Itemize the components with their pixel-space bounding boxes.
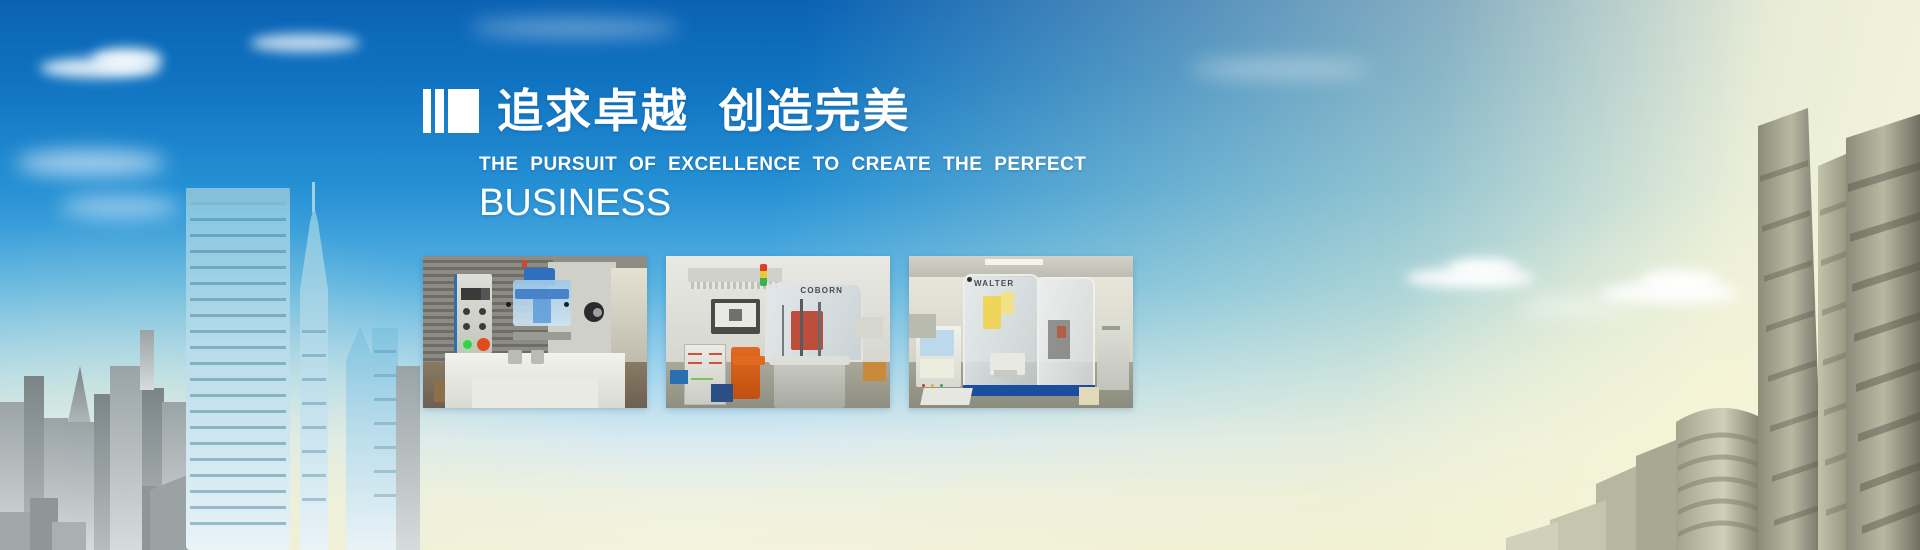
photo-coborn-grinding-machine[interactable]: COBORN (666, 256, 890, 408)
page-title: 追求卓越 创造完美 (497, 88, 911, 134)
photo-walter-tool-grinder[interactable]: WALTER (909, 256, 1133, 408)
photo-strip: COBORN W (423, 256, 1133, 408)
business-word: BUSINESS (479, 184, 1183, 224)
skyline-left-graphic (0, 130, 420, 550)
banner-text-block: 追求卓越 创造完美 THE PURSUIT OF EXCELLENCE TO C… (423, 88, 1183, 224)
tagline-english: THE PURSUIT OF EXCELLENCE TO CREATE THE … (479, 154, 1183, 176)
photo-cnc-drilling-machine[interactable] (423, 256, 647, 408)
photo-label-walter: WALTER (974, 279, 1014, 288)
skyline-right-graphic (1400, 80, 1920, 550)
bar-mark-logo-icon (423, 89, 479, 133)
hero-banner: 追求卓越 创造完美 THE PURSUIT OF EXCELLENCE TO C… (0, 0, 1920, 550)
headline-row: 追求卓越 创造完美 (423, 88, 1183, 134)
photo-label-coborn: COBORN (800, 286, 843, 295)
